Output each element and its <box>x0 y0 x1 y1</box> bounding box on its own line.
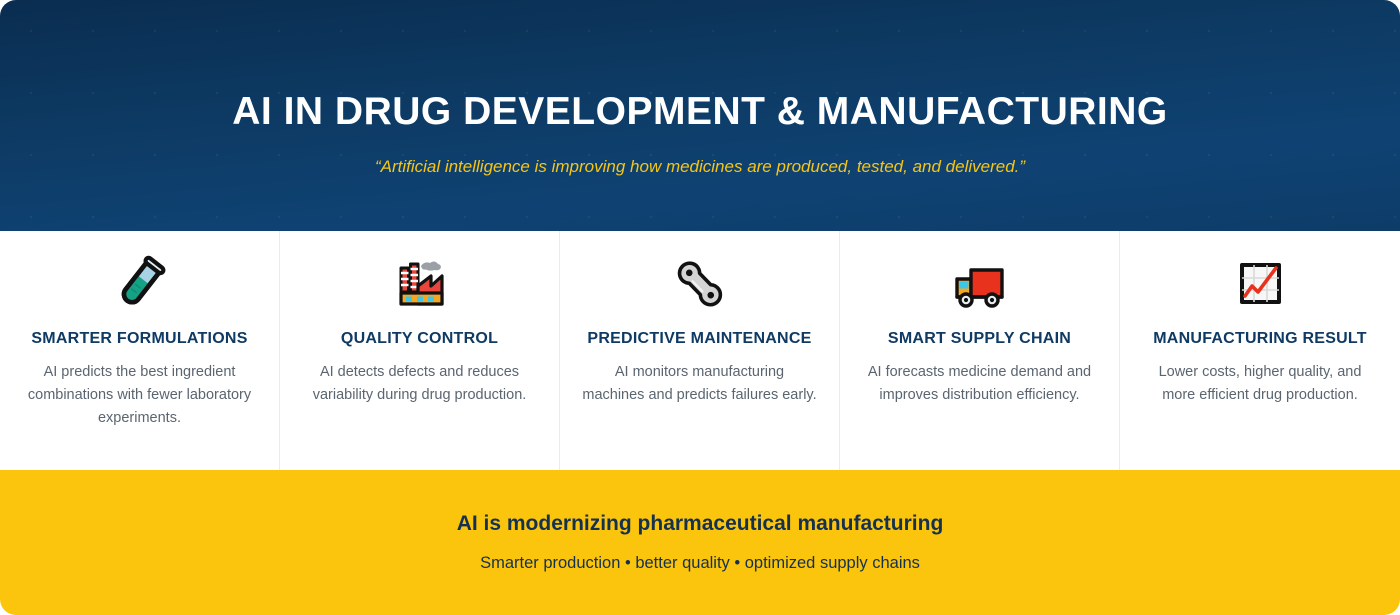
page-title: AI IN DRUG DEVELOPMENT & MANUFACTURING <box>232 53 1168 134</box>
feature-card-title: QUALITY CONTROL <box>341 329 498 348</box>
test-tube-icon <box>110 253 170 315</box>
feature-card-text: Lower costs, higher quality, and more ef… <box>1142 361 1378 407</box>
feature-card-manufacturing-result[interactable]: MANUFACTURING RESULT Lower costs, higher… <box>1120 231 1400 470</box>
feature-card-smart-supply-chain[interactable]: SMART SUPPLY CHAIN AI forecasts medicine… <box>840 231 1120 470</box>
chart-increasing-icon <box>1230 253 1290 315</box>
footer-subtext: Smarter production • better quality • op… <box>480 553 920 574</box>
delivery-truck-icon <box>950 253 1010 315</box>
feature-card-title: SMART SUPPLY CHAIN <box>888 329 1071 348</box>
feature-card-text: AI monitors manufacturing machines and p… <box>582 361 817 407</box>
feature-card-title: MANUFACTURING RESULT <box>1153 329 1367 348</box>
feature-card-text: AI forecasts medicine demand and improve… <box>862 361 1097 407</box>
factory-icon <box>390 253 450 315</box>
feature-card-title: PREDICTIVE MAINTENANCE <box>587 329 811 348</box>
infographic-root: AI IN DRUG DEVELOPMENT & MANUFACTURING “… <box>0 0 1400 615</box>
feature-card-text: AI detects defects and reduces variabili… <box>302 361 537 407</box>
footer-headline: AI is modernizing pharmaceutical manufac… <box>457 511 944 537</box>
feature-card-row: SMARTER FORMULATIONS AI predicts the bes… <box>0 231 1400 470</box>
feature-card-quality-control[interactable]: QUALITY CONTROL AI detects defects and r… <box>280 231 560 470</box>
feature-card-smarter-formulations[interactable]: SMARTER FORMULATIONS AI predicts the bes… <box>0 231 280 470</box>
wrench-icon <box>670 253 730 315</box>
feature-card-predictive-maintenance[interactable]: PREDICTIVE MAINTENANCE AI monitors manuf… <box>560 231 840 470</box>
footer-banner: AI is modernizing pharmaceutical manufac… <box>0 470 1400 615</box>
feature-card-title: SMARTER FORMULATIONS <box>31 329 247 348</box>
header-subtitle: “Artificial intelligence is improving ho… <box>375 156 1025 178</box>
header-banner: AI IN DRUG DEVELOPMENT & MANUFACTURING “… <box>0 0 1400 231</box>
feature-card-text: AI predicts the best ingredient combinat… <box>22 361 257 430</box>
